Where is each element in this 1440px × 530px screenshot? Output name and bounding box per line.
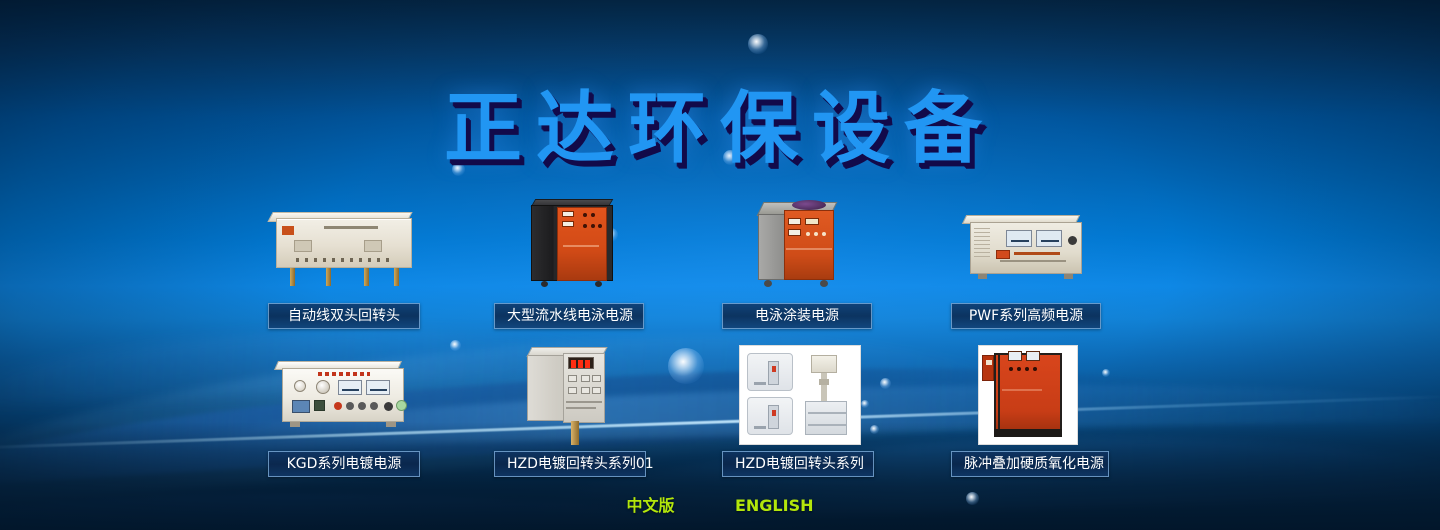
page-title: 正达环保设备 <box>0 66 1440 178</box>
product-hzd-plating-rotary-head[interactable] <box>739 345 861 445</box>
product-image-electrophoresis-coating <box>752 196 844 292</box>
product-large-line-electrophoresis[interactable] <box>525 197 621 289</box>
product-image-hzd-plating-rotary-head <box>739 345 861 445</box>
splash-page: 正达环保设备 自动线双头回转头 大型流水线电泳电源 电泳 <box>0 0 1440 530</box>
product-image-pwf-high-frequency <box>960 212 1090 286</box>
product-label-electrophoresis-coating[interactable]: 电泳涂装电源 <box>722 303 872 329</box>
product-label-hzd-plating-rotary-head[interactable]: HZD电镀回转头系列 <box>722 451 874 477</box>
product-image-hzd-plating-rotary-head-01 <box>521 345 617 447</box>
product-auto-line-double-head-rotary[interactable] <box>268 210 420 288</box>
product-image-pulse-hard-anodizing <box>978 345 1078 445</box>
product-label-pwf-high-frequency[interactable]: PWF系列高频电源 <box>951 303 1101 329</box>
product-label-hzd-plating-rotary-head-01[interactable]: HZD电镀回转头系列01 <box>494 451 646 477</box>
product-pwf-high-frequency[interactable] <box>960 212 1090 286</box>
product-kgd-plating-power[interactable] <box>274 358 414 434</box>
language-link-chinese[interactable]: 中文版 <box>627 496 675 515</box>
product-label-pulse-hard-anodizing[interactable]: 脉冲叠加硬质氧化电源 <box>951 451 1109 477</box>
product-image-kgd-plating-power <box>274 358 414 434</box>
language-switcher: 中文版 ENGLISH <box>0 492 1440 516</box>
product-image-large-line-electrophoresis <box>525 197 621 289</box>
product-image-auto-line-double-head-rotary <box>268 210 420 288</box>
product-label-large-line-electrophoresis[interactable]: 大型流水线电泳电源 <box>494 303 644 329</box>
language-link-english[interactable]: ENGLISH <box>735 496 814 515</box>
product-electrophoresis-coating[interactable] <box>752 196 844 292</box>
product-pulse-hard-anodizing[interactable] <box>978 345 1078 445</box>
product-label-kgd-plating-power[interactable]: KGD系列电镀电源 <box>268 451 420 477</box>
product-hzd-plating-rotary-head-01[interactable] <box>521 345 617 447</box>
product-label-auto-line-double-head-rotary[interactable]: 自动线双头回转头 <box>268 303 420 329</box>
